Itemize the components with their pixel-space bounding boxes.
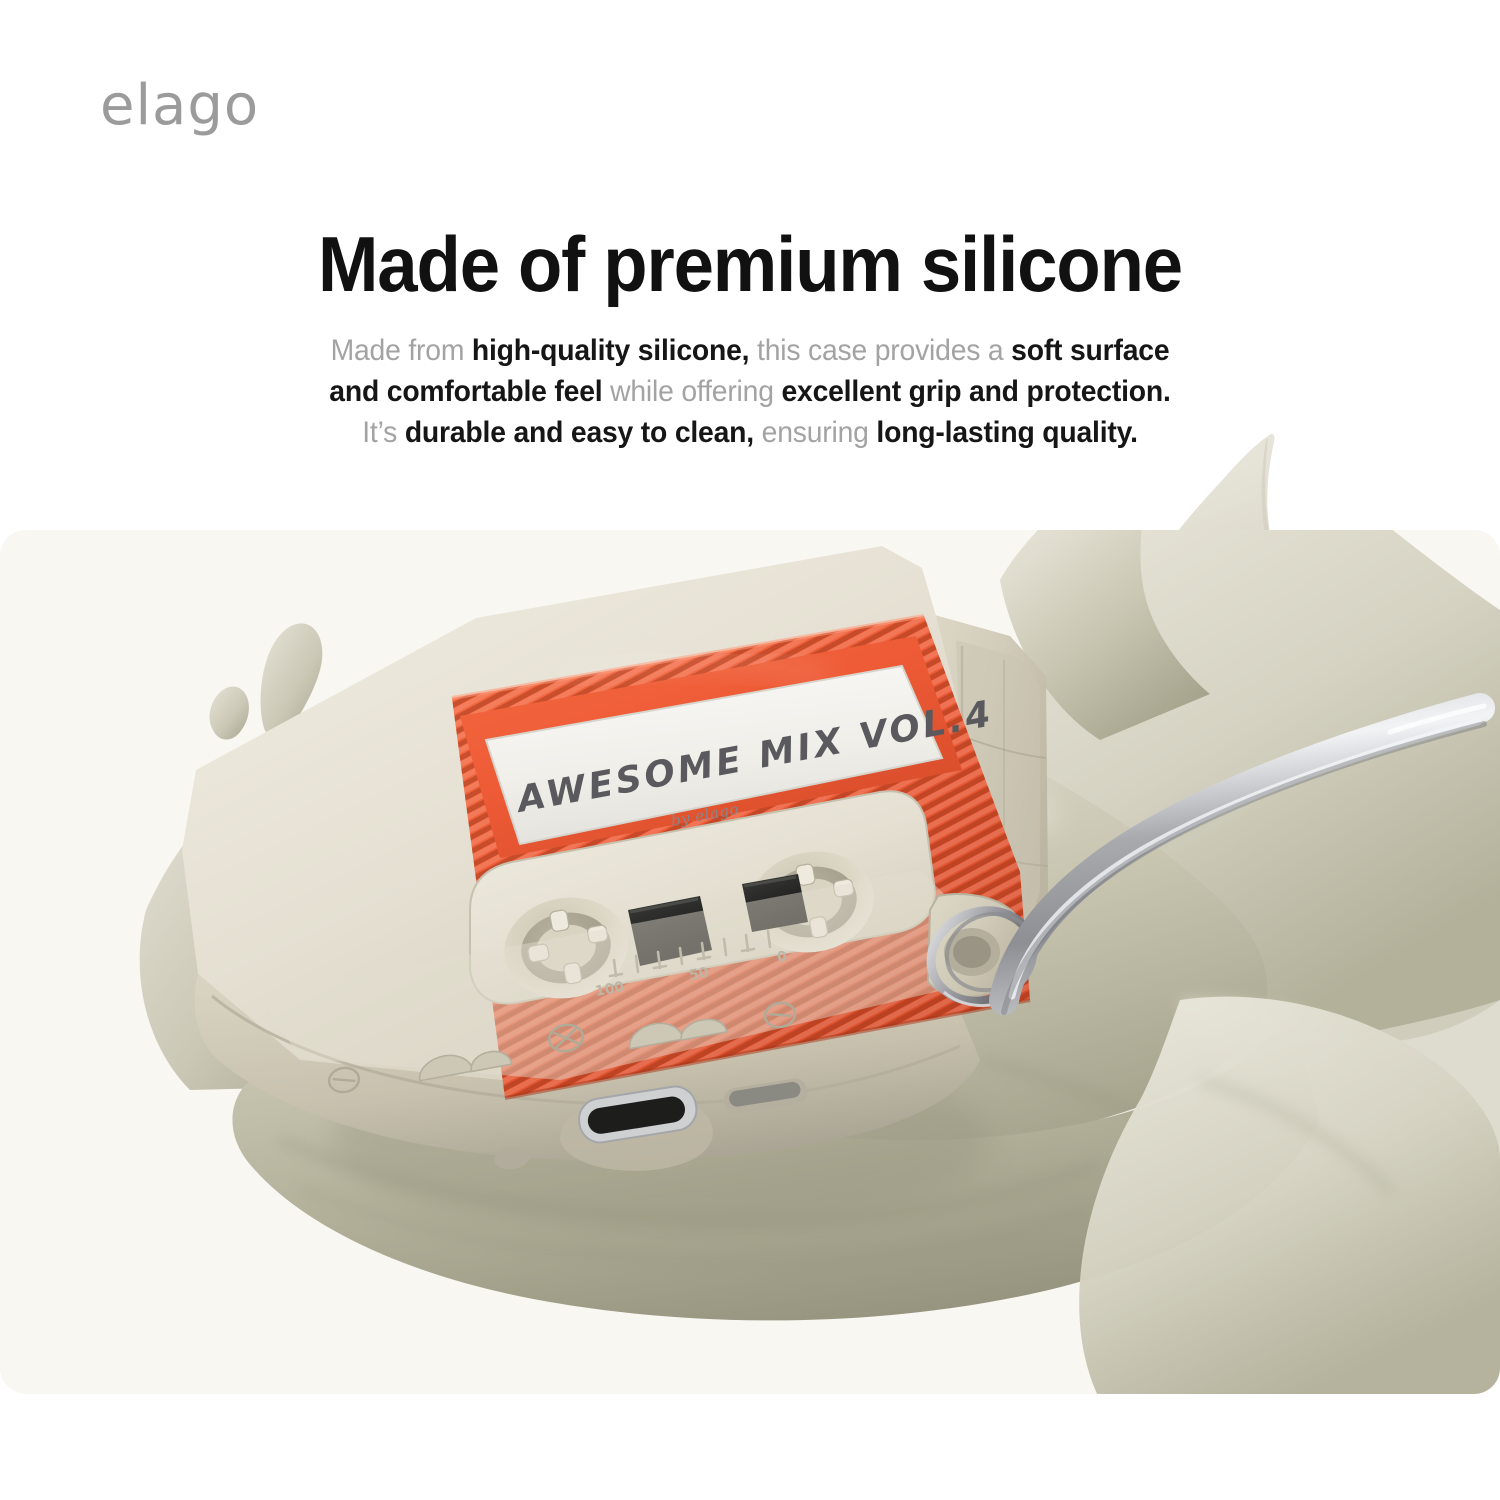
product-illustration: AWESOME MIX VOL.4 by elago <box>0 530 1500 1394</box>
page-title: Made of premium silicone <box>53 224 1448 306</box>
subtitle-line-3: It’s durable and easy to clean, ensuring… <box>30 412 1470 453</box>
hero-product-panel: AWESOME MIX VOL.4 by elago <box>0 530 1500 1394</box>
hero-clip: AWESOME MIX VOL.4 by elago <box>0 530 1500 1394</box>
subtitle-seg: this case provides a <box>749 334 1011 367</box>
subtitle-seg: high-quality silicone, <box>472 334 749 367</box>
subtitle-seg: excellent grip and protection. <box>774 375 1171 408</box>
brand-logo: elago <box>100 78 259 134</box>
subtitle-block: Made from high-quality silicone, this ca… <box>30 330 1470 453</box>
subtitle-seg: It’s <box>362 416 405 449</box>
subtitle-seg: and comfortable feel <box>329 375 610 408</box>
subtitle-line-2: and comfortable feel while offering exce… <box>30 371 1470 412</box>
subtitle-seg: Made from <box>331 334 472 367</box>
subtitle-seg: ensuring <box>754 416 876 449</box>
subtitle-line-1: Made from high-quality silicone, this ca… <box>30 330 1470 371</box>
subtitle-seg: long-lasting quality. <box>876 416 1137 449</box>
subtitle-seg: soft surface <box>1011 334 1169 367</box>
subtitle-seg: durable and easy to clean, <box>405 416 754 449</box>
hero-stage: AWESOME MIX VOL.4 by elago <box>0 530 1500 1394</box>
subtitle-seg: while offering <box>610 375 774 408</box>
